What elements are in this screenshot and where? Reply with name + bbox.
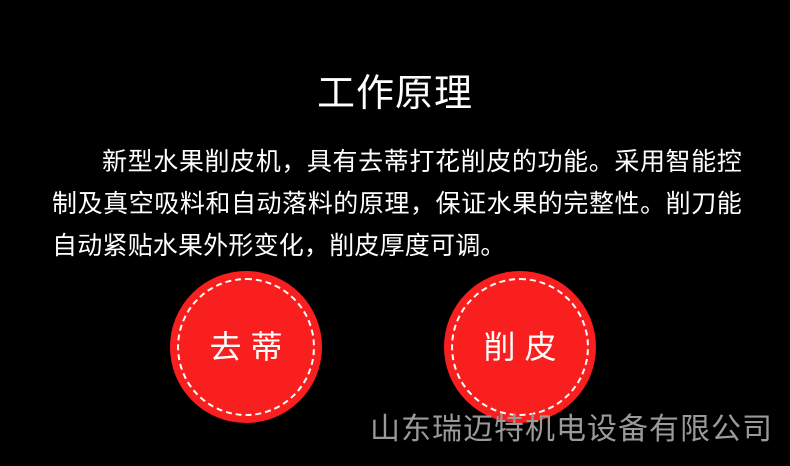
body-paragraph: 新型水果削皮机，具有去蒂打花削皮的功能。采用智能控制及真空吸料和自动落料的原理，… xyxy=(52,141,742,267)
feature-circle-deheading: 去蒂 xyxy=(170,271,322,423)
feature-circle-label: 削皮 xyxy=(474,330,565,364)
company-watermark: 山东瑞迈特机电设备有限公司 xyxy=(370,410,773,450)
presentation-slide: 工作原理 新型水果削皮机，具有去蒂打花削皮的功能。采用智能控制及真空吸料和自动落… xyxy=(0,0,790,466)
feature-circle-label: 去蒂 xyxy=(200,330,291,364)
feature-circle-peeling: 削皮 xyxy=(444,271,596,423)
page-title: 工作原理 xyxy=(0,69,790,117)
